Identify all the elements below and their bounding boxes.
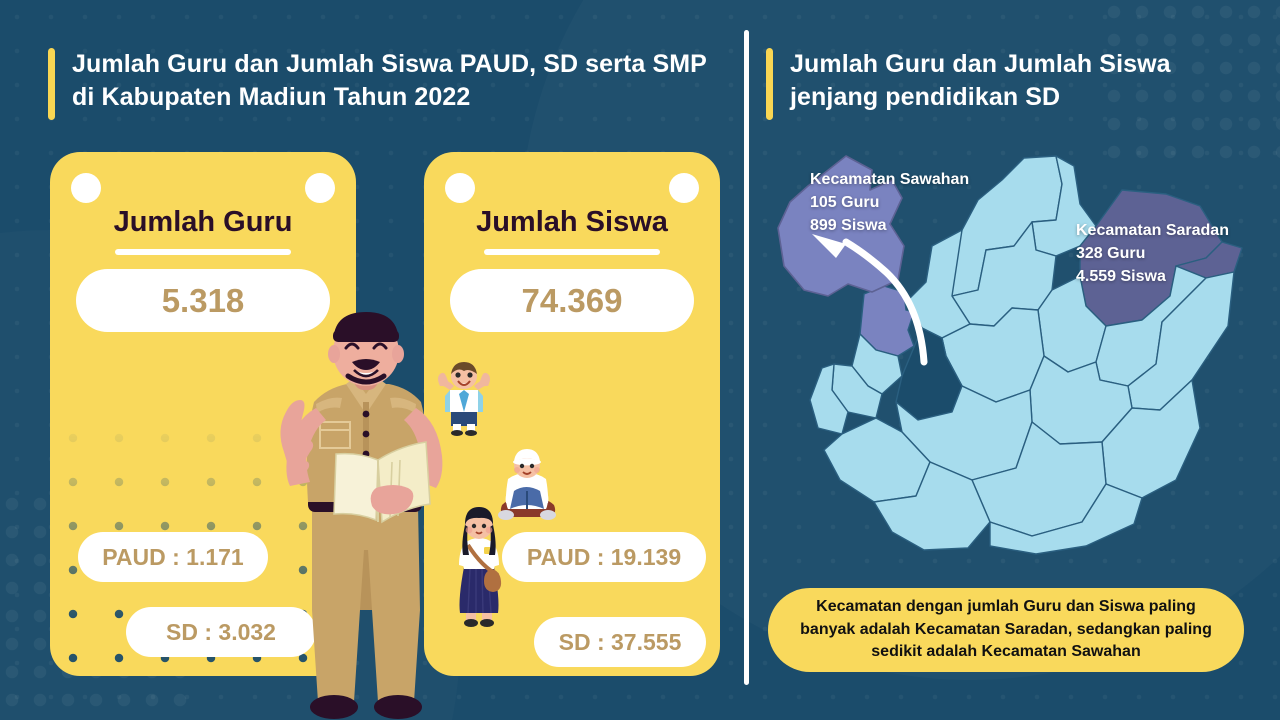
vertical-divider [744, 30, 749, 685]
card-jumlah-siswa: Jumlah Siswa 74.369 PAUD : 19.139 SD : 3… [424, 152, 720, 676]
card-punch-hole-left [71, 173, 101, 203]
card-heading-guru: Jumlah Guru [50, 206, 356, 239]
card-jumlah-guru: Jumlah Guru 5.318 PAUD : 1.171 SD : 3.03… [50, 152, 356, 676]
right-section-title: Jumlah Guru dan Jumlah Siswa jenjang pen… [766, 48, 1236, 120]
footnote-text: Kecamatan dengan jumlah Guru dan Siswa p… [790, 596, 1222, 663]
card-punch-hole-right [305, 173, 335, 203]
map-label-saradan-name: Kecamatan Saradan [1076, 219, 1229, 242]
title-accent-bar [766, 48, 773, 120]
card-heading-siswa: Jumlah Siswa [424, 206, 720, 239]
left-title-text: Jumlah Guru dan Jumlah Siswa PAUD, SD se… [72, 48, 708, 113]
stat-pill-siswa-paud: PAUD : 19.139 [502, 532, 706, 582]
stat-pill-guru-paud: PAUD : 1.171 [78, 532, 268, 582]
stat-pill-guru-sd: SD : 3.032 [126, 607, 316, 657]
card-punch-hole-right [669, 173, 699, 203]
total-guru-value: 5.318 [76, 269, 330, 332]
map-label-sawahan-guru: 105 Guru [810, 191, 969, 214]
map-label-sawahan-name: Kecamatan Sawahan [810, 168, 969, 191]
title-accent-bar [48, 48, 55, 120]
total-siswa-value: 74.369 [450, 269, 694, 332]
map-label-saradan: Kecamatan Saradan 328 Guru 4.559 Siswa [1076, 219, 1229, 289]
map-label-saradan-guru: 328 Guru [1076, 242, 1229, 265]
footnote-callout: Kecamatan dengan jumlah Guru dan Siswa p… [768, 588, 1244, 672]
map-label-saradan-siswa: 4.559 Siswa [1076, 265, 1229, 288]
stat-pill-siswa-sd: SD : 37.555 [534, 617, 706, 667]
right-title-text: Jumlah Guru dan Jumlah Siswa jenjang pen… [790, 48, 1236, 113]
map-label-sawahan-siswa: 899 Siswa [810, 214, 969, 237]
card-heading-underline [115, 249, 291, 255]
left-section-title: Jumlah Guru dan Jumlah Siswa PAUD, SD se… [48, 48, 708, 120]
card-heading-underline [484, 249, 660, 255]
map-label-sawahan: Kecamatan Sawahan 105 Guru 899 Siswa [810, 168, 969, 238]
card-punch-hole-left [445, 173, 475, 203]
